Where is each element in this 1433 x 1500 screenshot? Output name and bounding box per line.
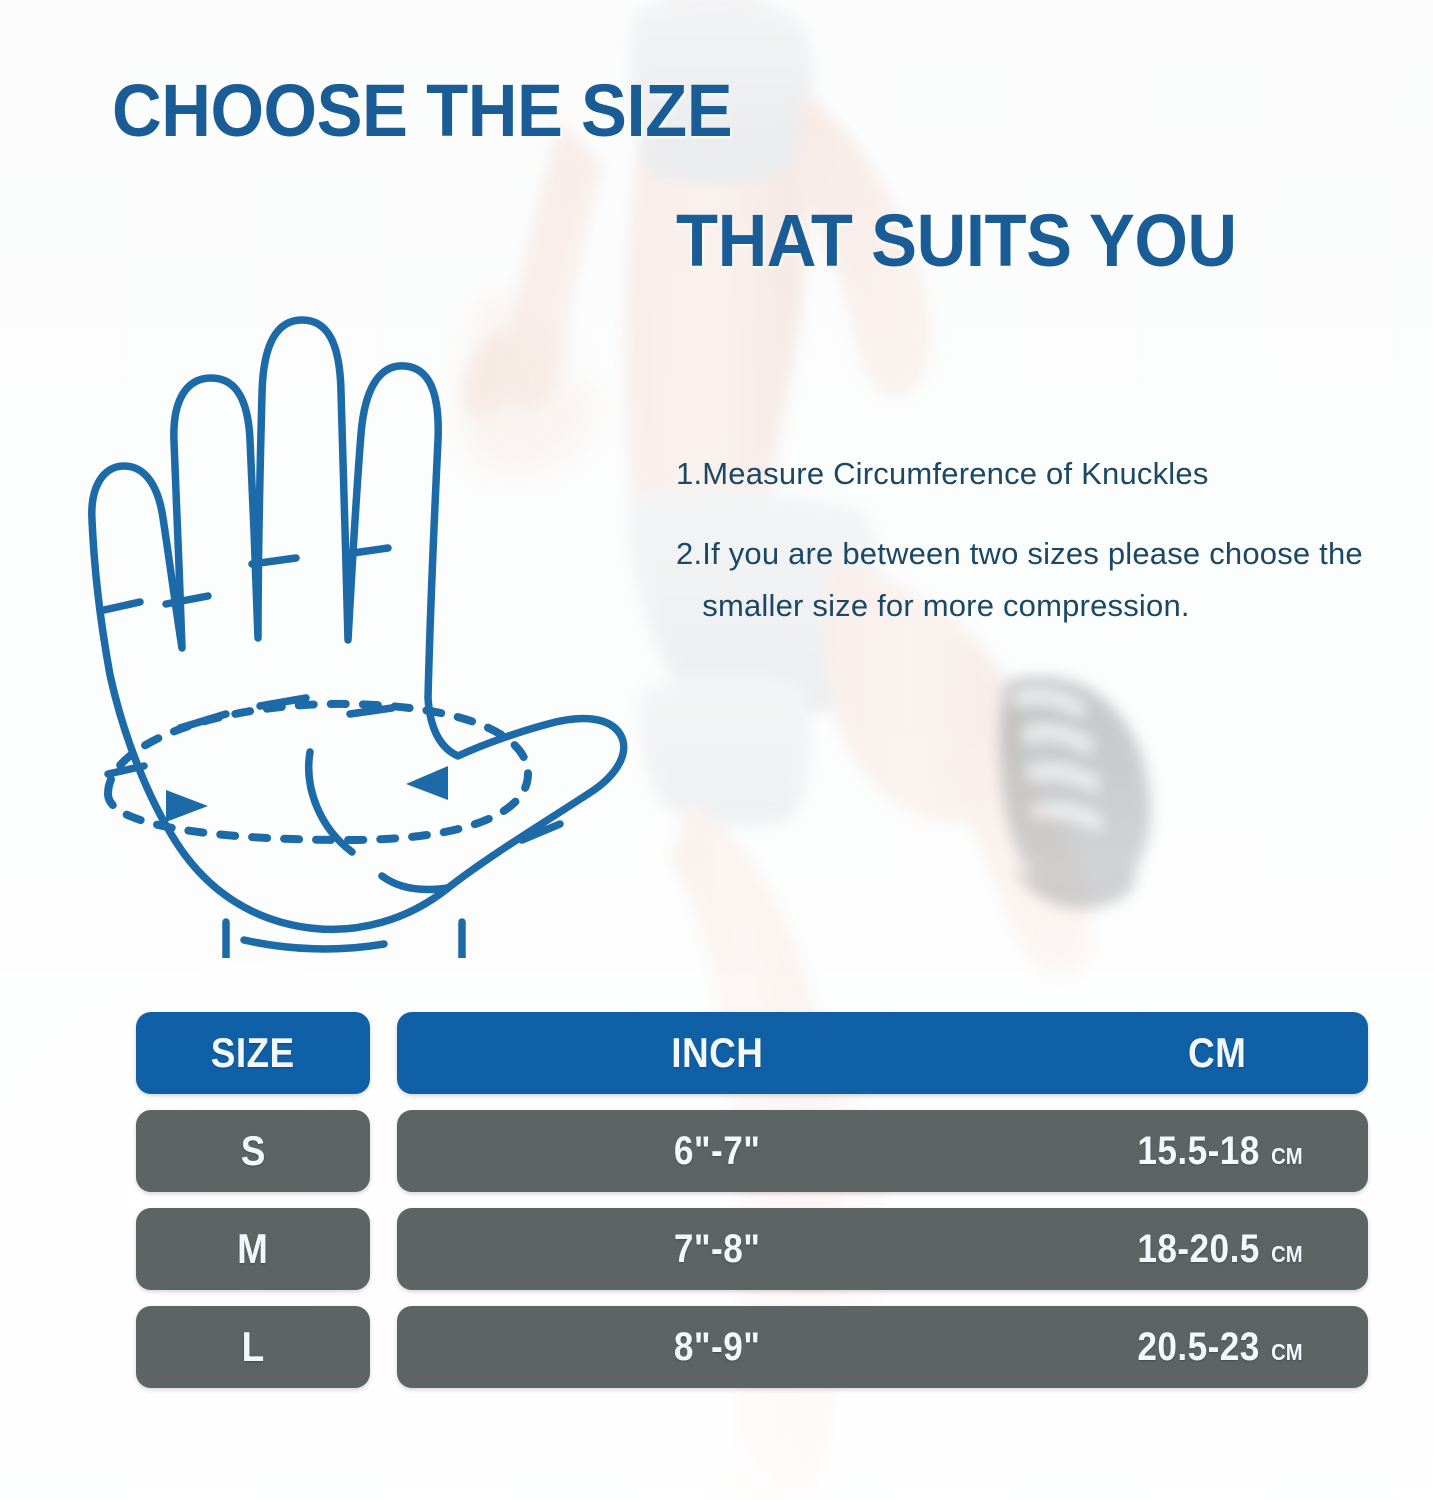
instruction-number-2: 2. <box>676 528 702 580</box>
direction-arrow-left <box>406 766 448 800</box>
row-cell-size: S <box>136 1110 370 1192</box>
cm-value: 20.5-23 <box>1137 1325 1259 1370</box>
row-cell-measurements: 7"-8" 18-20.5 CM <box>397 1208 1368 1290</box>
cm-unit: CM <box>1271 1143 1302 1170</box>
page-title-line-2: THAT SUITS YOU <box>676 204 1237 278</box>
header-label-inch: INCH <box>671 1029 763 1077</box>
inch-value: 6"-7" <box>674 1129 760 1174</box>
instruction-list: 1. Measure Circumference of Knuckles 2. … <box>676 448 1428 660</box>
size-value: S <box>240 1127 265 1175</box>
table-header-row: SIZE INCH CM <box>136 1012 1368 1094</box>
inch-value: 7"-8" <box>674 1227 760 1272</box>
header-cell-size: SIZE <box>136 1012 370 1094</box>
inch-value: 8"-9" <box>674 1325 760 1370</box>
size-value: L <box>241 1323 264 1371</box>
cm-value: 18-20.5 <box>1137 1227 1259 1272</box>
table-row: M 7"-8" 18-20.5 CM <box>136 1208 1368 1290</box>
page-title-line-1: CHOOSE THE SIZE <box>112 74 732 148</box>
row-cell-size: L <box>136 1306 370 1388</box>
instruction-text-2: If you are between two sizes please choo… <box>702 528 1428 632</box>
direction-arrow-right <box>166 790 208 822</box>
size-chart-table: SIZE INCH CM S 6"-7" 15.5-18 <box>136 1012 1368 1404</box>
hand-measurement-diagram <box>48 228 688 958</box>
header-cell-measurements: INCH CM <box>397 1012 1368 1094</box>
row-cell-measurements: 8"-9" 20.5-23 CM <box>397 1306 1368 1388</box>
table-row: L 8"-9" 20.5-23 CM <box>136 1306 1368 1388</box>
instruction-item-1: 1. Measure Circumference of Knuckles <box>676 448 1428 500</box>
cm-unit: CM <box>1271 1241 1302 1268</box>
instruction-number-1: 1. <box>676 448 702 500</box>
table-row: S 6"-7" 15.5-18 CM <box>136 1110 1368 1192</box>
instruction-text-1: Measure Circumference of Knuckles <box>702 448 1428 500</box>
row-cell-measurements: 6"-7" 15.5-18 CM <box>397 1110 1368 1192</box>
instruction-item-2: 2. If you are between two sizes please c… <box>676 528 1428 632</box>
cm-unit: CM <box>1271 1339 1302 1366</box>
cm-value: 15.5-18 <box>1137 1129 1259 1174</box>
row-cell-size: M <box>136 1208 370 1290</box>
header-label-cm: CM <box>1188 1029 1246 1077</box>
size-value: M <box>237 1225 268 1273</box>
header-label-size: SIZE <box>211 1029 295 1077</box>
